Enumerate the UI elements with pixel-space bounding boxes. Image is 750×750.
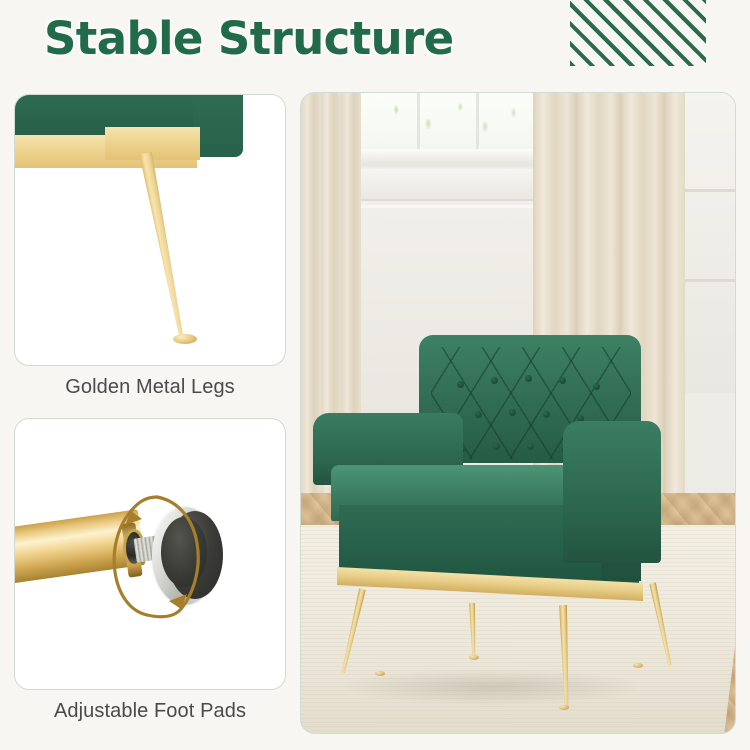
feature-card-golden-metal-legs	[14, 94, 286, 366]
adjustable-foot-pads-image	[15, 419, 285, 689]
diagonal-stripes-icon	[570, 0, 706, 66]
page-header: Stable Structure	[0, 0, 750, 88]
chair-leg-tip	[469, 655, 479, 660]
tufting-button	[559, 377, 566, 384]
tufting-button	[525, 375, 532, 382]
feature-card-adjustable-foot-pads	[14, 418, 286, 690]
gold-leg	[139, 152, 187, 336]
tufting-button	[491, 377, 498, 384]
tufting-button	[509, 409, 516, 416]
gold-leg-foot	[173, 334, 197, 344]
chair-leg-tip	[375, 671, 385, 676]
rotation-arrows-icon	[15, 419, 286, 690]
tufting-button	[543, 411, 550, 418]
wall-wainscot	[349, 169, 545, 201]
tufting-button	[527, 443, 534, 450]
gold-trim-band-2	[105, 127, 200, 160]
golden-metal-legs-image	[15, 95, 285, 365]
tufting-button	[593, 383, 600, 390]
chair-leg-tip	[559, 705, 569, 710]
main-product-photo	[300, 92, 736, 734]
window-mullion	[476, 93, 479, 149]
window-sill	[349, 149, 545, 165]
cabinet-shelf-line	[685, 279, 736, 282]
tufting-button	[475, 411, 482, 418]
feature-caption-golden-metal-legs: Golden Metal Legs	[14, 376, 286, 399]
cabinet-shelf-line	[685, 189, 736, 192]
chair-shadow	[341, 669, 641, 705]
tufting-button	[493, 443, 500, 450]
background-cabinet	[685, 93, 736, 393]
window-foliage	[357, 93, 535, 149]
tufting-button	[457, 381, 464, 388]
feature-caption-adjustable-foot-pads: Adjustable Foot Pads	[14, 700, 286, 723]
page-title: Stable Structure	[44, 12, 454, 65]
window-mullion	[417, 93, 420, 149]
chair-leg-tip	[633, 663, 643, 668]
velvet-frame-side	[193, 94, 243, 157]
chair-arm-right	[563, 421, 661, 563]
